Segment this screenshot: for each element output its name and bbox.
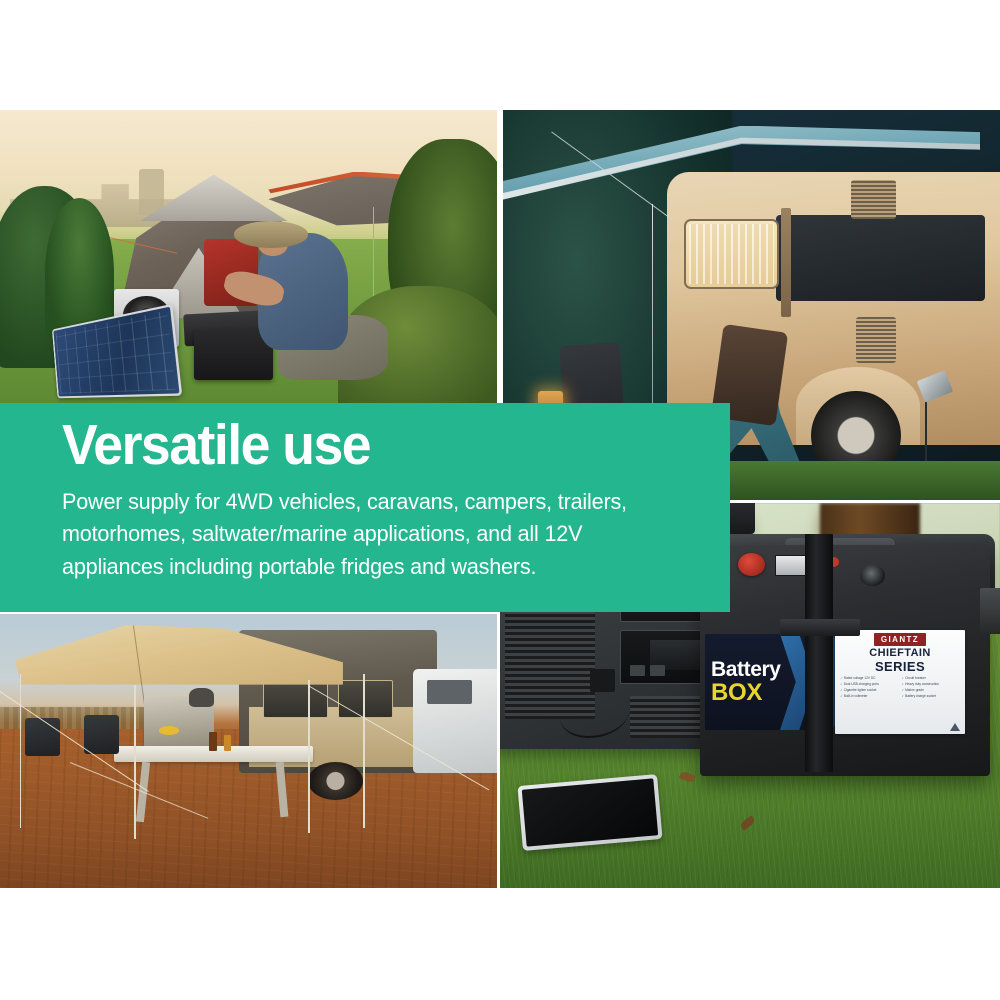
trailer-wheel: [308, 762, 363, 800]
feature-bullet: Rated voltage 12V DC: [840, 676, 898, 681]
trailer-window-right: [338, 680, 393, 718]
feature-bullet: Built-in voltmeter: [840, 694, 898, 699]
awning-pole-b: [134, 685, 136, 838]
awning-pole-d: [363, 674, 365, 827]
bucket-hat: [234, 221, 309, 247]
tarp-pole-left: [373, 207, 374, 307]
chieftain-series-label: GIANTZ CHIEFTAIN SERIES Rated voltage 12…: [835, 630, 965, 734]
camp-kettle: [189, 688, 214, 707]
yellow-bowl: [159, 726, 179, 734]
awning-pole: [652, 204, 653, 415]
battery-box-circuit-breaker-knob: [738, 553, 766, 576]
caravan-dark-panel: [776, 215, 985, 301]
tablet-device: [517, 774, 662, 851]
camp-chair-a: [25, 718, 60, 756]
feature-bullet: Circuit breaker: [902, 676, 960, 681]
feature-bullet: Heavy duty construction: [902, 682, 960, 687]
bottle-two: [224, 735, 231, 751]
giantz-brand-badge: GIANTZ: [874, 633, 926, 646]
feature-bullet-list: Rated voltage 12V DC Circuit breaker Dua…: [840, 676, 960, 698]
series-label-line1: CHIEFTAIN: [869, 648, 930, 660]
battery-box-strap: [805, 534, 833, 773]
photo-camping-scene: Man kneeling beside a portable battery b…: [0, 110, 497, 403]
banner-title: Versatile use: [62, 417, 662, 474]
caravan-vent-upper: [851, 180, 896, 219]
caravan-vent-lower: [856, 317, 896, 364]
feature-bullet: Marine grade: [902, 688, 960, 693]
fridge-vent-grille-lower: [630, 696, 710, 738]
fridge-button-minus: [630, 665, 645, 677]
feature-bullet: Cigarette lighter socket: [840, 688, 898, 693]
banner-body-line-2: motorhomes, saltwater/marine application…: [62, 518, 674, 550]
banner-body-line-3: appliances including portable fridges an…: [62, 551, 674, 583]
banner-body: Power supply for 4WD vehicles, caravans,…: [62, 486, 674, 583]
banner-body-line-1: Power supply for 4WD vehicles, caravans,…: [62, 486, 674, 518]
battery-box-12v-socket: [860, 565, 885, 587]
compliance-triangle-icon: [950, 723, 960, 731]
product-marketing-image: Man kneeling beside a portable battery b…: [0, 0, 1000, 1000]
bottle-one: [209, 732, 217, 751]
battery-box-side-latch: [980, 588, 1000, 634]
awning-pole-c: [308, 680, 310, 833]
camp-chair-b: [84, 715, 119, 753]
battery-box-strap-buckle: [780, 619, 860, 636]
caravan-window: [684, 219, 778, 289]
feature-bullet: Battery charge socket: [902, 694, 960, 699]
photo-camper-trailer-scene: Off-road camper trailer with canvas awni…: [0, 614, 497, 888]
trailer-window-left: [263, 680, 328, 718]
series-label-line2: SERIES: [875, 660, 925, 674]
caravan-door: [781, 208, 791, 317]
fridge-button-plus: [650, 665, 665, 677]
feature-bullet: Dual USB charging ports: [840, 682, 898, 687]
awning-pole-a: [20, 674, 22, 827]
versatile-use-banner: Versatile use Power supply for 4WD vehic…: [0, 403, 730, 612]
tow-vehicle-window: [427, 680, 472, 705]
